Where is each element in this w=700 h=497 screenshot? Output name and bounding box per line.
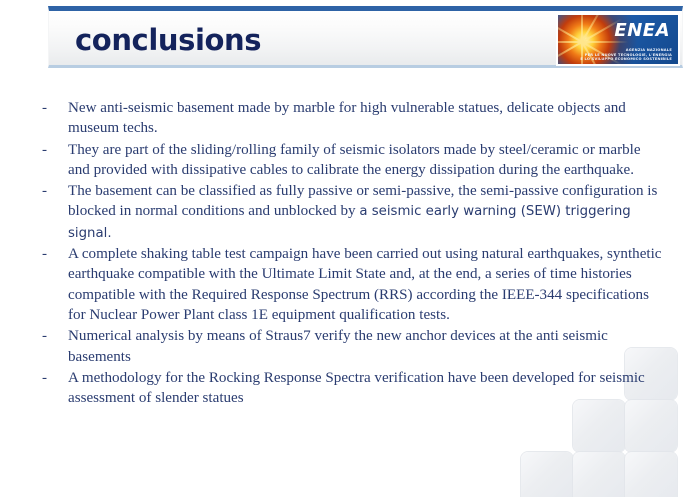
enea-tagline-line-3: E LO SVILUPPO ECONOMICO SOSTENIBILE <box>558 57 672 62</box>
page-title: conclusions <box>75 22 261 58</box>
bullet-marker: - <box>42 140 47 160</box>
bullet-marker: - <box>42 244 47 264</box>
list-item-text: They are part of the sliding/rolling fam… <box>68 142 641 178</box>
list-item-text: A complete shaking table test campaign h… <box>68 246 661 323</box>
list-item-text: New anti-seismic basement made by marble… <box>68 100 626 136</box>
list-item: -A methodology for the Rocking Response … <box>36 368 666 410</box>
list-item: -The basement can be classified as fully… <box>36 181 666 244</box>
decorative-square <box>521 452 573 497</box>
bullet-marker: - <box>42 98 47 118</box>
bullet-marker: - <box>42 326 47 346</box>
decorative-square <box>573 452 625 497</box>
list-item-text: Numerical analysis by means of Straus7 v… <box>68 328 608 364</box>
list-item: -A complete shaking table test campaign … <box>36 244 666 326</box>
decorative-square <box>625 452 677 497</box>
enea-logo: ENEA AGENZIA NAZIONALE PER LE NUOVE TECN… <box>556 13 680 66</box>
list-item: -New anti-seismic basement made by marbl… <box>36 98 666 140</box>
list-item-text: A methodology for the Rocking Response S… <box>68 370 645 406</box>
enea-wordmark: ENEA <box>614 21 670 40</box>
slide-title-band: conclusions ENEA AGENZIA NAZIONALE PER L… <box>48 6 683 68</box>
bullet-marker: - <box>42 368 47 388</box>
enea-tagline: AGENZIA NAZIONALE PER LE NUOVE TECNOLOGI… <box>558 48 676 62</box>
conclusions-bullet-list: -New anti-seismic basement made by marbl… <box>36 98 666 409</box>
list-item: -Numerical analysis by means of Straus7 … <box>36 326 666 368</box>
presentation-slide: conclusions ENEA AGENZIA NAZIONALE PER L… <box>0 0 700 497</box>
bullet-marker: - <box>42 181 47 201</box>
list-item: -They are part of the sliding/rolling fa… <box>36 140 666 182</box>
